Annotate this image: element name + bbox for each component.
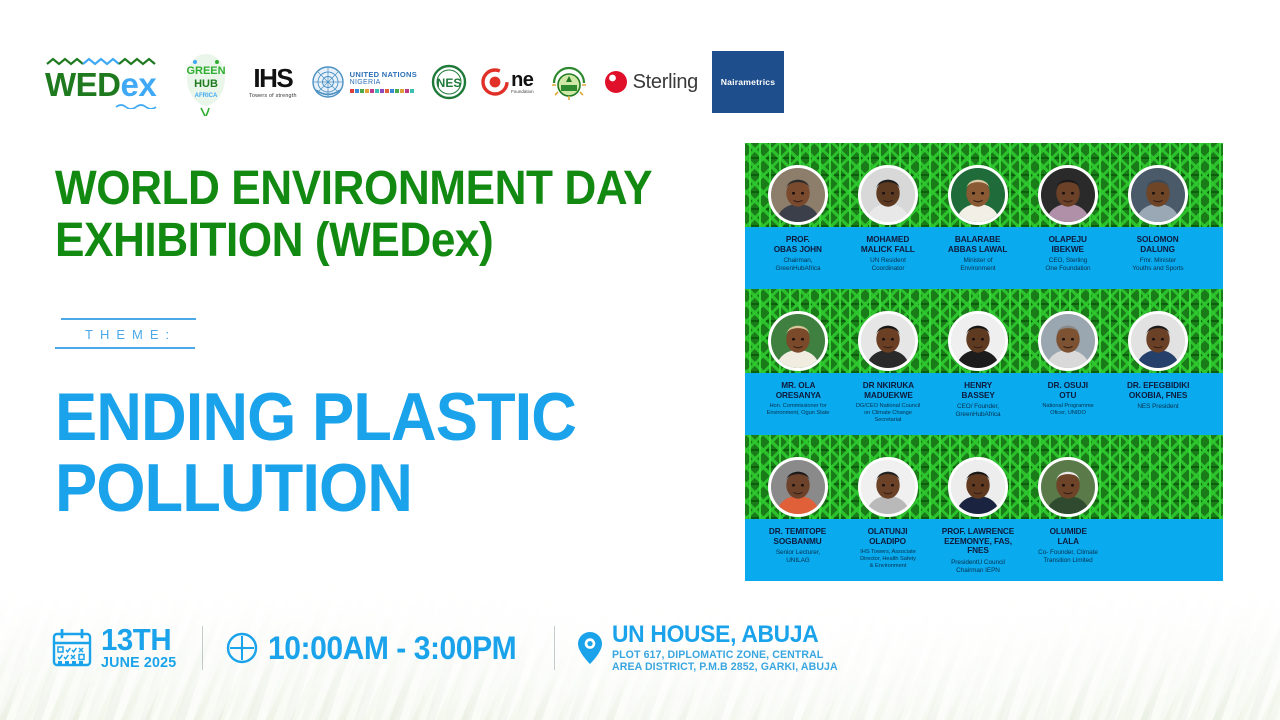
speaker-avatar <box>1038 165 1098 225</box>
location-pin-icon <box>577 631 603 665</box>
speaker-name: HENRYBASSEY <box>961 381 994 400</box>
logo-sterling-bank: Sterling <box>604 70 698 94</box>
speaker-role: CEO/ Founder,GreenHubAfrica <box>953 403 1002 418</box>
ihs-tagline: Towers of strength <box>249 93 297 99</box>
one-foundation-mark-icon <box>481 68 509 96</box>
speaker-avatar <box>948 165 1008 225</box>
speaker-role: Co- Founder, ClimateTransition Limited <box>1036 549 1100 564</box>
un-label-line1: UNITED NATIONS <box>350 71 417 79</box>
speaker-row: DR. TEMITOPESOGBANMUSenior Lecturer,UNIL… <box>745 435 1223 581</box>
headline-line-1: WORLD ENVIRONMENT DAY <box>55 163 690 215</box>
speaker-name: OLAPEJUIBEKWE <box>1049 235 1087 254</box>
logo-wedex: WEDex <box>45 56 163 109</box>
speaker-role: DG/CEO National Councilon Climate Change… <box>854 403 922 424</box>
speaker-name: DR NKIRUKAMADUEKWE <box>862 381 913 400</box>
headline-line-2: EXHIBITION (WEDex) <box>55 215 690 267</box>
speaker-role: NES President <box>1135 403 1180 411</box>
speaker-card[interactable]: OLATUNJIOLADIPOIHS Towers, AssociateDire… <box>843 435 933 581</box>
event-venue: UN HOUSE, ABUJA PLOT 617, DIPLOMATIC ZON… <box>577 622 847 674</box>
speakers-panel: PROF.OBAS JOHNChairman,GreenHubAfricaMOH… <box>745 143 1223 585</box>
sterling-wordmark: Sterling <box>633 71 698 94</box>
speaker-card[interactable]: DR. OSUJIOTUNational ProgrammeOficer, UN… <box>1023 289 1113 435</box>
theme-title: ENDING PLASTIC POLLUTION <box>55 382 706 523</box>
event-date-month-year: JUNE 2025 <box>101 656 176 671</box>
un-emblem-icon <box>311 65 345 99</box>
speaker-card[interactable]: SOLOMONDALUNGFmr. MinisterYouths and Spo… <box>1113 143 1203 289</box>
wedex-we: WED <box>45 66 121 103</box>
speaker-card[interactable]: OLUMIDELALACo- Founder, ClimateTransitio… <box>1023 435 1113 581</box>
event-time-text: 10:00AM - 3:00PM <box>268 630 516 667</box>
speaker-role: Chairman,GreenHubAfrica <box>773 257 822 272</box>
theme-divider-bottom <box>55 347 195 349</box>
info-divider-2 <box>554 626 555 670</box>
speaker-role: UN ResidentCoordinator <box>868 257 908 272</box>
speaker-name: OLUMIDELALA <box>1049 527 1086 546</box>
speaker-row: MR. OLAORESANYAHon. Commissioner forEnvi… <box>745 289 1223 435</box>
speaker-role: Hon. Commissioner forEnvironment, Ogun S… <box>765 403 832 417</box>
logo-ihs-towers: IHS Towers of strength <box>249 65 297 99</box>
logo-ogun-state <box>548 61 590 103</box>
speaker-name: DR. TEMITOPESOGBANMU <box>769 527 826 546</box>
theme-label: THEME: <box>55 320 255 347</box>
un-colorbar-icon <box>350 89 416 93</box>
event-date: 13TH JUNE 2025 <box>52 625 180 670</box>
svg-text:HUB: HUB <box>194 78 218 90</box>
speaker-card-list: MR. OLAORESANYAHon. Commissioner forEnvi… <box>745 289 1223 435</box>
nairametrics-wordmark: Nairametrics <box>721 77 775 87</box>
theme-label-block: THEME: <box>55 318 255 349</box>
ihs-wordmark: IHS <box>253 65 292 91</box>
speaker-avatar <box>858 311 918 371</box>
speaker-avatar <box>948 311 1008 371</box>
speaker-avatar <box>1128 311 1188 371</box>
calendar-icon <box>52 629 92 667</box>
speaker-role: IHS Towers, AssociateDirector, Health Sa… <box>858 549 918 570</box>
venue-name: UN HOUSE, ABUJA <box>612 622 835 649</box>
speaker-card[interactable]: PROF. LAWRENCEEZEMONYE, FAS, FNESPreside… <box>933 435 1023 581</box>
clock-icon <box>225 631 259 665</box>
svg-text:GREEN: GREEN <box>186 65 225 77</box>
speaker-row: PROF.OBAS JOHNChairman,GreenHubAfricaMOH… <box>745 143 1223 289</box>
speaker-card-list: PROF.OBAS JOHNChairman,GreenHubAfricaMOH… <box>745 143 1223 289</box>
speaker-name: MOHAMEDMALICK FALL <box>861 235 915 254</box>
speaker-card[interactable]: BALARABEABBAS LAWALMinister ofEnvironmen… <box>933 143 1023 289</box>
speaker-avatar <box>948 457 1008 517</box>
venue-address-line-2: AREA DISTRICT, P.M.B 2852, GARKI, ABUJA <box>612 661 838 673</box>
event-date-day: 13TH <box>101 625 176 655</box>
speaker-name: PROF.OBAS JOHN <box>774 235 822 254</box>
info-divider-1 <box>202 626 203 670</box>
wedex-underline-icon <box>115 102 161 109</box>
speaker-card[interactable]: PROF.OBAS JOHNChairman,GreenHubAfrica <box>753 143 843 289</box>
wedex-ex: ex <box>121 66 157 103</box>
speaker-role: National ProgrammeOficer, UNIDO <box>1040 403 1095 417</box>
speaker-avatar <box>858 165 918 225</box>
event-time: 10:00AM - 3:00PM <box>225 630 532 667</box>
speaker-avatar <box>768 165 828 225</box>
theme-title-line-1: ENDING PLASTIC <box>55 382 706 453</box>
sterling-mark-icon <box>604 70 628 94</box>
speaker-card[interactable]: OLAPEJUIBEKWECEO, SterlingOne Foundation <box>1023 143 1113 289</box>
speaker-role: CEO, SterlingOne Foundation <box>1043 257 1092 272</box>
speaker-card[interactable]: HENRYBASSEYCEO/ Founder,GreenHubAfrica <box>933 289 1023 435</box>
speaker-card[interactable]: DR NKIRUKAMADUEKWEDG/CEO National Counci… <box>843 289 933 435</box>
one-foundation-sub: Foundation <box>511 90 534 95</box>
speaker-card-list: DR. TEMITOPESOGBANMUSenior Lecturer,UNIL… <box>745 435 1223 581</box>
speaker-role: Minister ofEnvironment <box>958 257 997 272</box>
speaker-card[interactable]: DR. EFEGBIDIKIOKOBIA, FNESNES President <box>1113 289 1203 435</box>
page-title: WORLD ENVIRONMENT DAY EXHIBITION (WEDex) <box>55 163 690 267</box>
logo-one-foundation: ne Foundation <box>481 68 534 96</box>
event-info-bar: 13TH JUNE 2025 10:00AM - 3:00PM UN HOUSE… <box>52 618 848 678</box>
venue-address-line-1: PLOT 617, DIPLOMATIC ZONE, CENTRAL <box>612 649 838 661</box>
speaker-avatar <box>1038 311 1098 371</box>
speaker-name: DR. OSUJIOTU <box>1048 381 1088 400</box>
speaker-name: SOLOMONDALUNG <box>1137 235 1179 254</box>
speaker-avatar <box>768 457 828 517</box>
speaker-avatar <box>858 457 918 517</box>
un-label-line2: NIGERIA <box>350 79 417 86</box>
speaker-role: PresidentU CouncilChairman IEPN <box>949 559 1007 574</box>
speaker-card[interactable]: DR. TEMITOPESOGBANMUSenior Lecturer,UNIL… <box>753 435 843 581</box>
logo-nes: NES <box>431 64 467 100</box>
theme-title-line-2: POLLUTION <box>55 453 706 524</box>
speaker-card[interactable]: MOHAMEDMALICK FALLUN ResidentCoordinator <box>843 143 933 289</box>
nes-wordmark: NES <box>437 76 462 90</box>
logo-nairametrics: Nairametrics <box>712 51 784 113</box>
speaker-avatar <box>768 311 828 371</box>
speaker-name: PROF. LAWRENCEEZEMONYE, FAS, FNES <box>934 527 1021 556</box>
speaker-name: DR. EFEGBIDIKIOKOBIA, FNES <box>1127 381 1189 400</box>
speaker-card[interactable]: MR. OLAORESANYAHon. Commissioner forEnvi… <box>753 289 843 435</box>
speaker-name: OLATUNJIOLADIPO <box>868 527 908 546</box>
speaker-role: Fmr. MinisterYouths and Sports <box>1130 257 1185 272</box>
speaker-role: Senior Lecturer,UNILAG <box>774 549 822 564</box>
speaker-name: BALARABEABBAS LAWAL <box>948 235 1007 254</box>
logo-un-nigeria: UNITED NATIONS NIGERIA <box>311 65 417 99</box>
speaker-name: MR. OLAORESANYA <box>775 381 820 400</box>
one-foundation-wordmark: ne <box>511 70 534 90</box>
svg-text:AFRICA: AFRICA <box>195 93 218 99</box>
logo-greenhub-africa: GREEN HUB AFRICA <box>177 48 235 116</box>
speaker-avatar <box>1038 457 1098 517</box>
speaker-avatar <box>1128 165 1188 225</box>
sponsor-logo-strip: WEDex GREEN HUB AFRICA IHS Towers of str… <box>45 46 784 118</box>
wedex-wordmark: WEDex <box>45 68 156 101</box>
